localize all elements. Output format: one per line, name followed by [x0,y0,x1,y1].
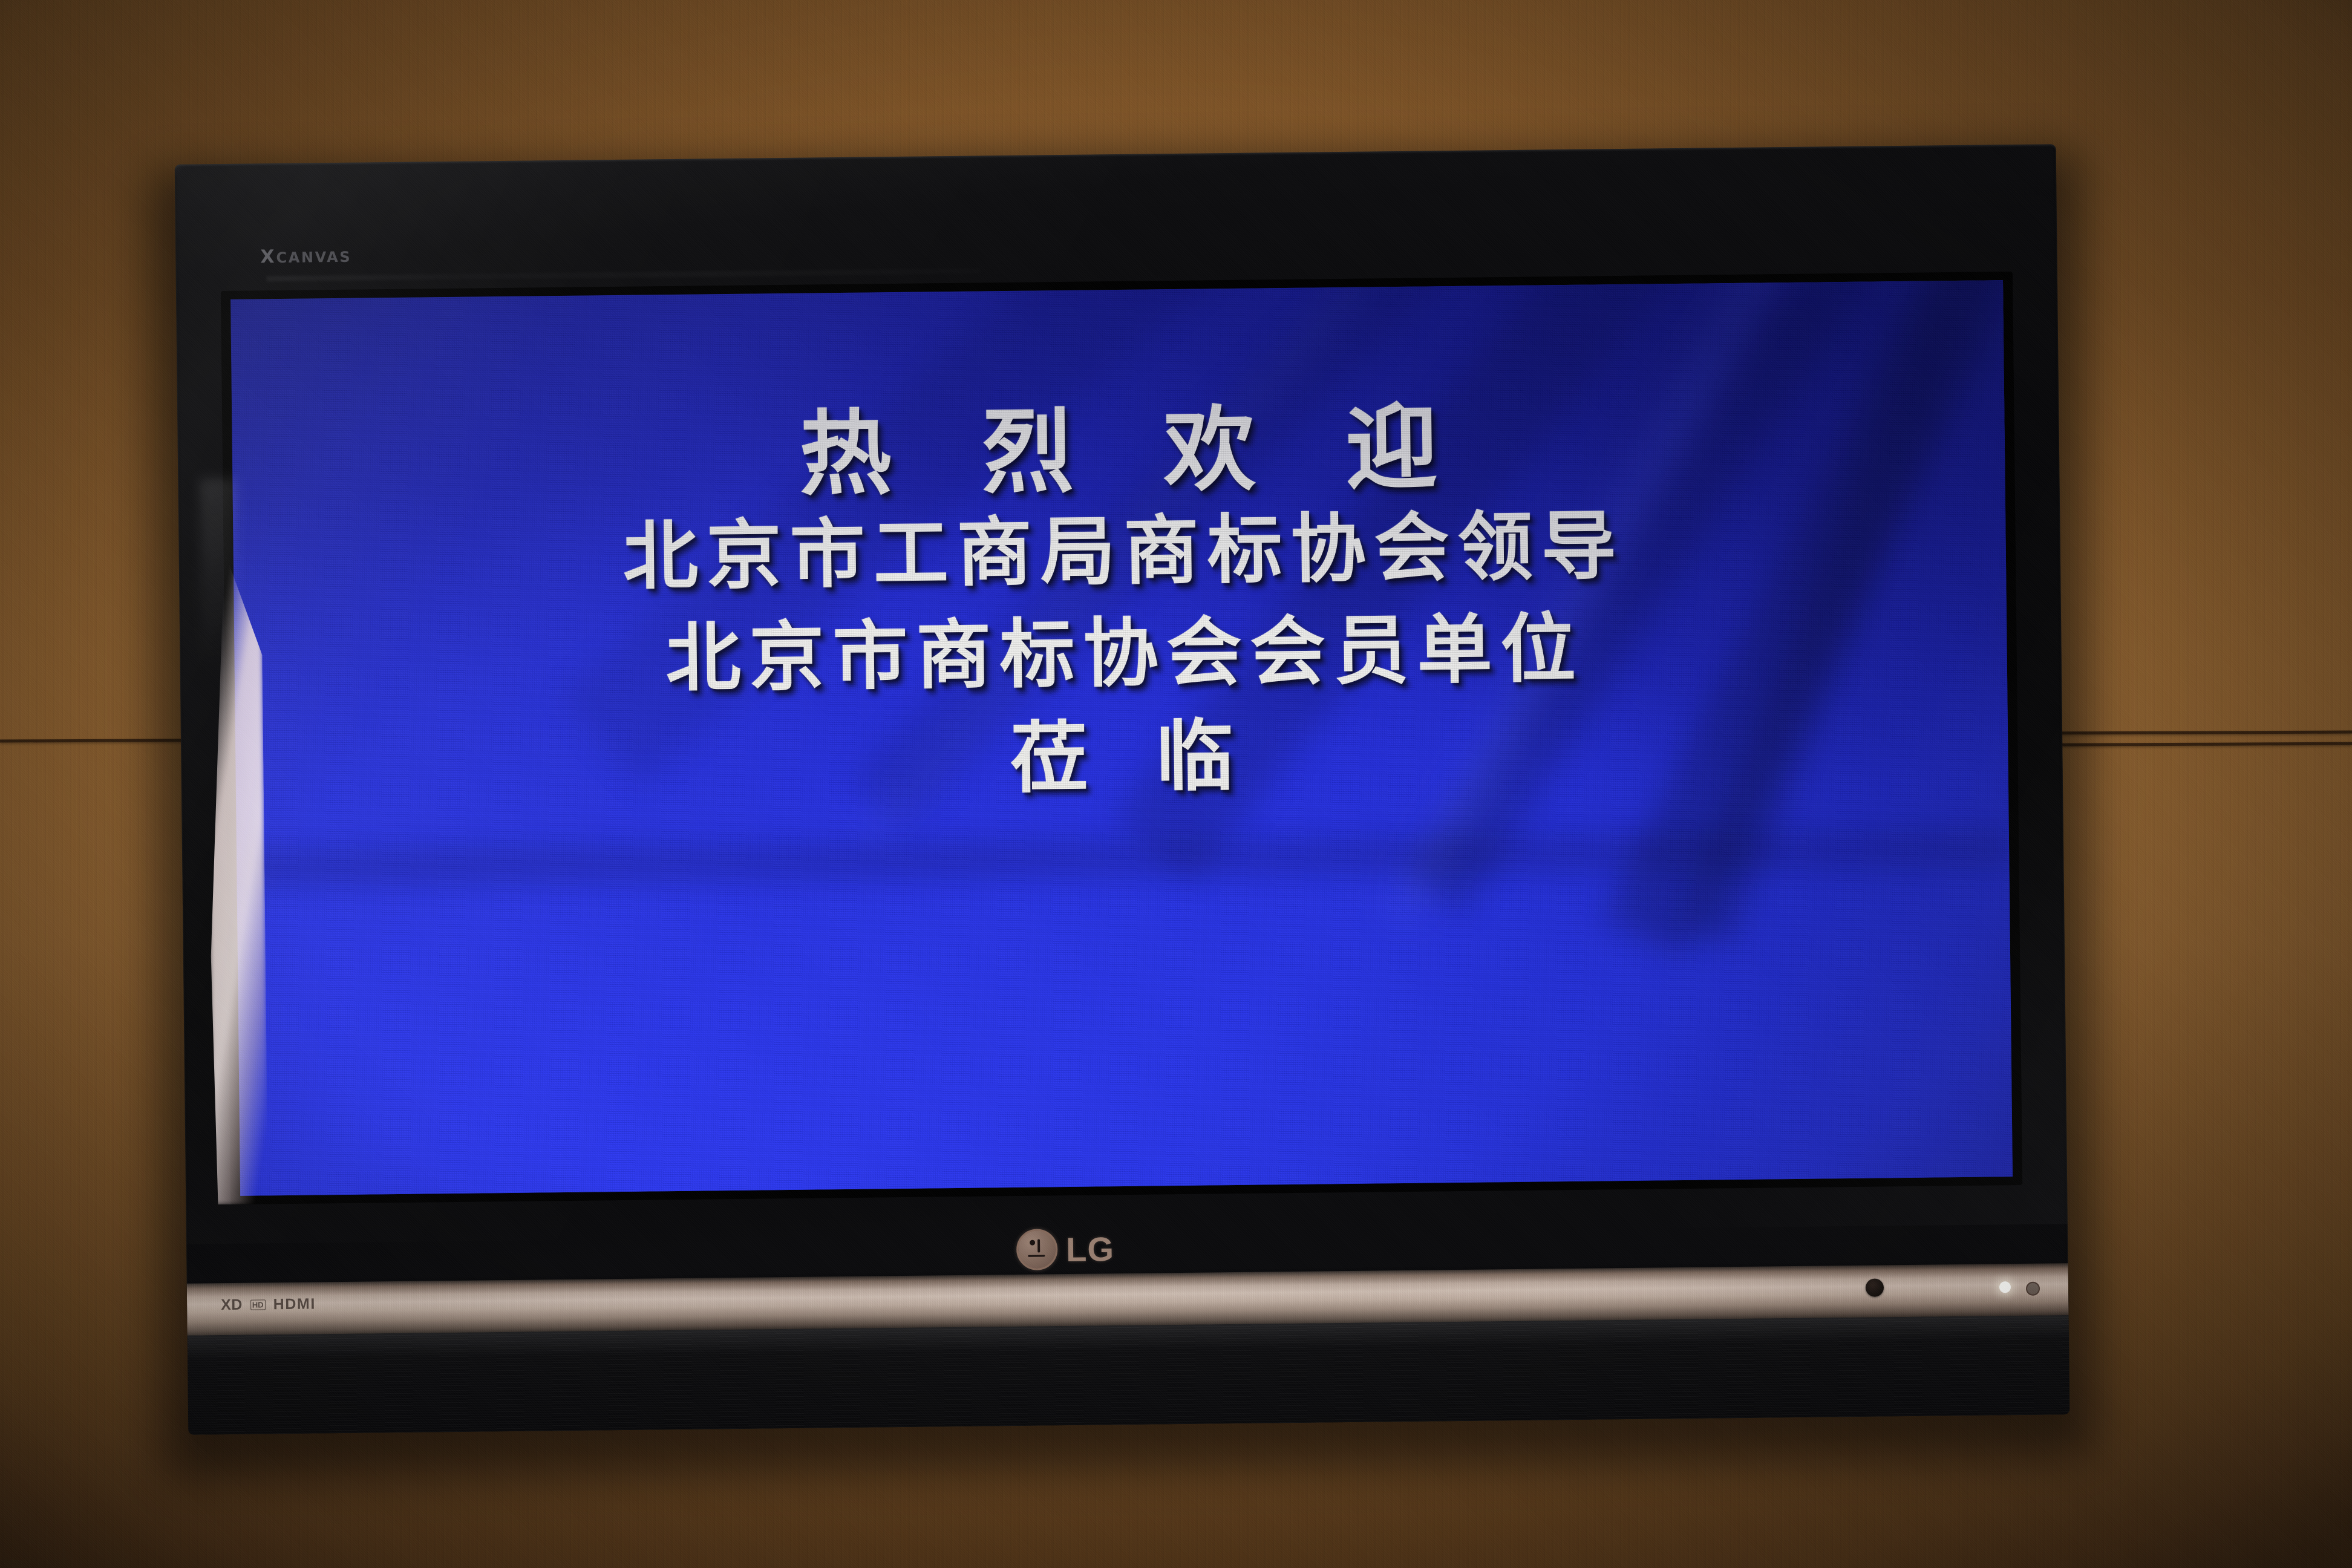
xcanvas-logo-text: CANVAS [276,249,351,266]
lg-smiley-icon [1016,1229,1058,1270]
lg-logo-mouth [1028,1255,1045,1256]
feature-logos: XD HD HDMI [221,1295,316,1314]
xcanvas-logo-x: X [260,246,275,267]
tv-bezel-body: X CANVAS 热 烈 欢 迎 北京市工商局商标协会领导 [175,144,2070,1435]
hd-badge-icon: HD [250,1299,266,1310]
speaker-mesh-texture [188,1315,2070,1435]
power-led-indicator[interactable] [1999,1281,2011,1293]
display-screen[interactable]: 热 烈 欢 迎 北京市工商局商标协会领导 北京市商标协会会员单位 莅 临 [230,280,2013,1196]
screen-vignette [230,280,2013,1196]
ir-sensor-icon [1866,1278,1884,1296]
lg-logo-nose [1037,1240,1040,1253]
xcanvas-brand-logo: X CANVAS [260,246,351,268]
lg-brand-logo: LG [1016,1228,1114,1270]
xd-engine-logo: XD [221,1296,243,1314]
lg-logo-eye [1030,1240,1035,1246]
hdmi-logo: HDMI [273,1295,316,1313]
lg-wordmark: LG [1066,1229,1114,1269]
speaker-grille [188,1315,2070,1435]
standby-led-indicator[interactable] [2026,1282,2040,1296]
television-set: X CANVAS 热 烈 欢 迎 北京市工商局商标协会领导 [175,144,2070,1435]
screen-recess: 热 烈 欢 迎 北京市工商局商标协会领导 北京市商标协会会员单位 莅 临 [221,272,2022,1204]
